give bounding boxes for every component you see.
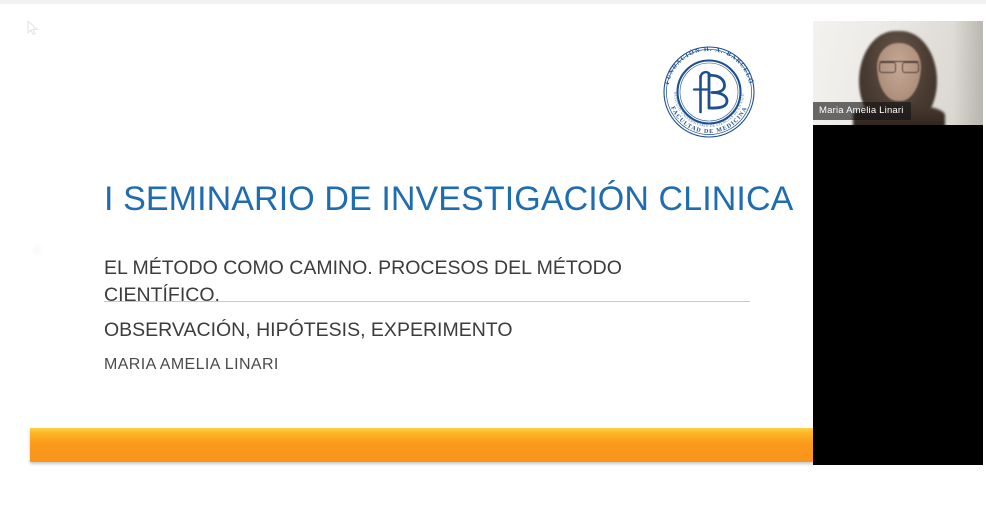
video-wall-shadow (953, 21, 983, 125)
slide-author: MARIA AMELIA LINARI (104, 354, 279, 376)
bottom-letterbox (0, 487, 986, 520)
participant-video-panel[interactable]: Maria Amelia Linari (813, 21, 983, 465)
slide-title: I SEMINARIO DE INVESTIGACIÓN CLINICA (104, 178, 793, 220)
institution-seal-logo: FUNDACIÓN H. A. BARCELÓ FACULTAD DE MEDI… (657, 42, 761, 142)
video-panel-filler (813, 125, 983, 465)
presentation-slide: FUNDACIÓN H. A. BARCELÓ FACULTAD DE MEDI… (0, 4, 813, 487)
slide-accent-bar (30, 428, 813, 462)
slide-divider-rule (104, 301, 750, 302)
slide-keywords: OBSERVACIÓN, HIPÓTESIS, EXPERIMENTO (104, 317, 513, 343)
slide-smudge-artifact (30, 242, 44, 258)
screen-share-stage: FUNDACIÓN H. A. BARCELÓ FACULTAD DE MEDI… (0, 0, 986, 520)
video-person-glasses (879, 61, 919, 71)
mouse-cursor-artifact (27, 21, 39, 35)
participant-name-label: Maria Amelia Linari (813, 102, 911, 120)
